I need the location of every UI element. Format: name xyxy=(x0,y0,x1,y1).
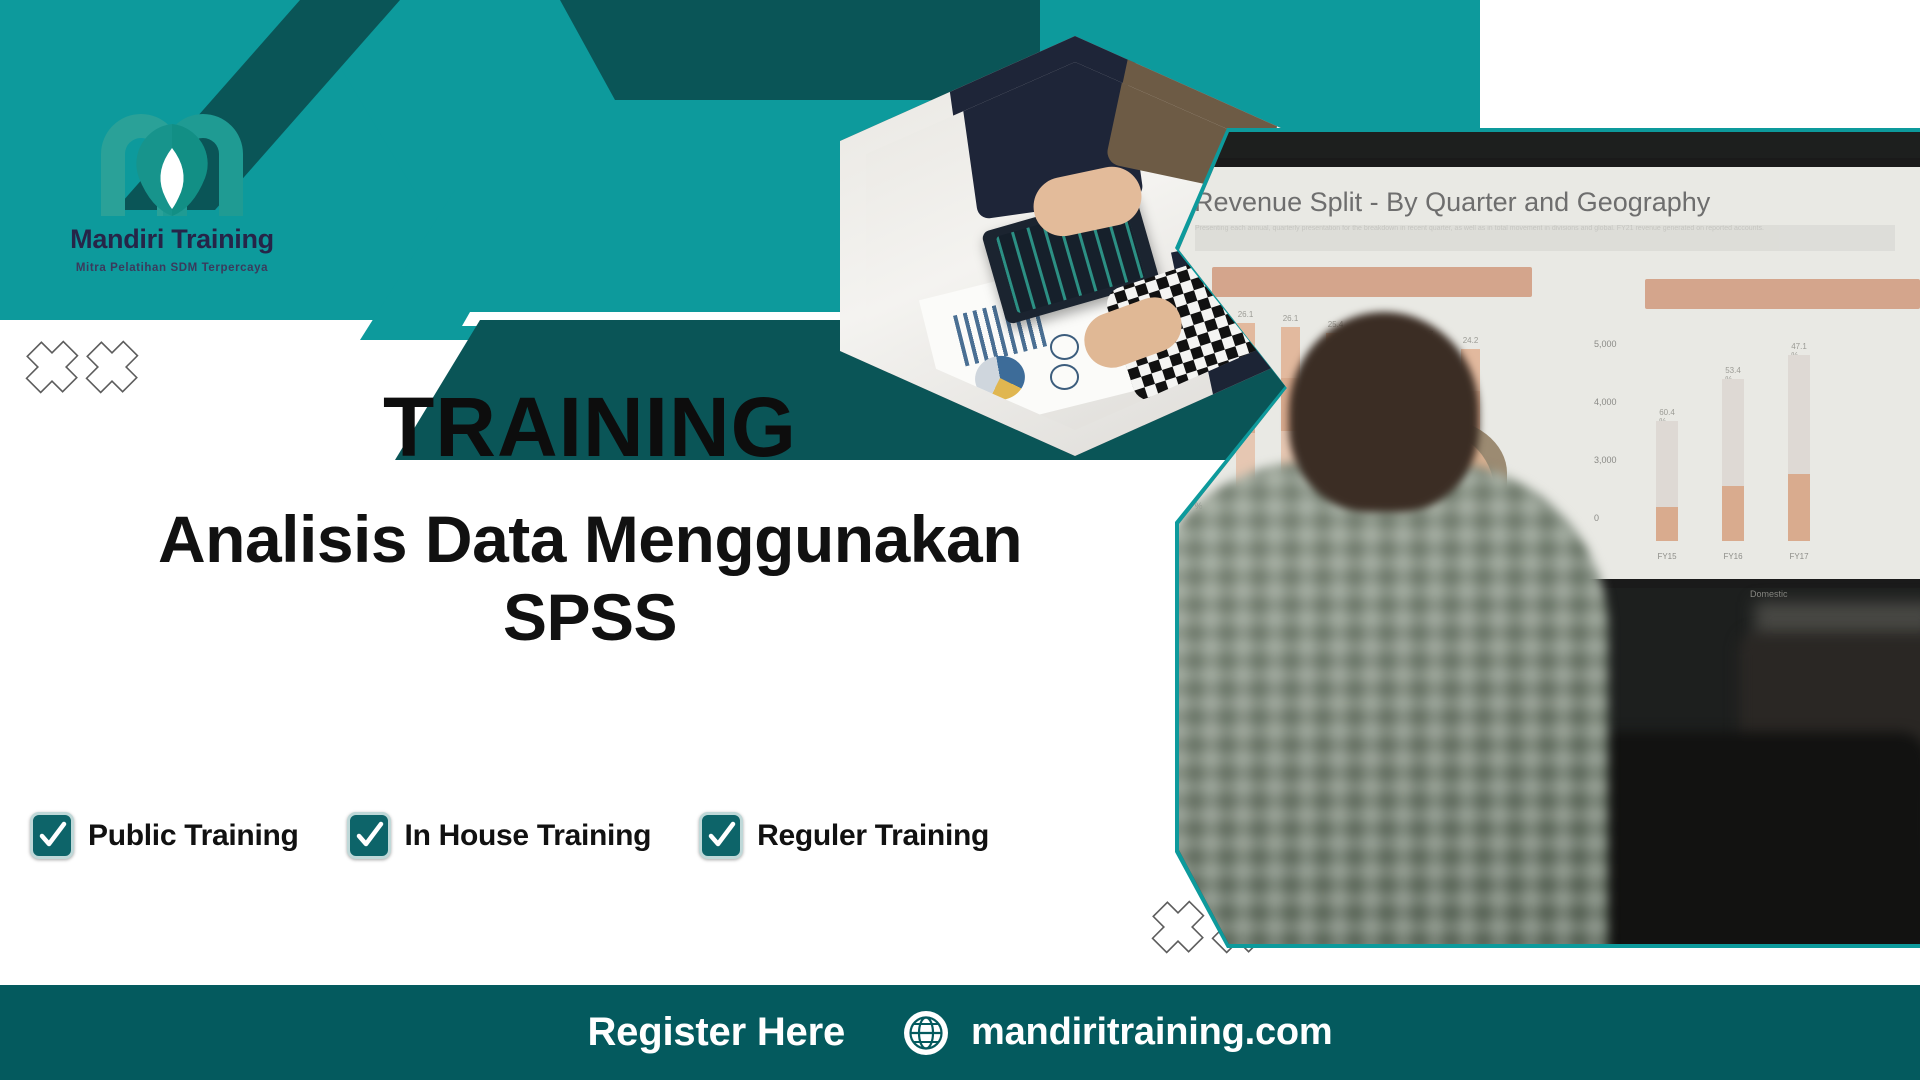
y-tick: 4,000 xyxy=(1594,397,1617,407)
footer-bar: Register Here mandiritraining.com xyxy=(0,985,1920,1080)
paper-donut-chart xyxy=(1050,364,1079,390)
checkbox-checked-icon[interactable] xyxy=(699,812,743,859)
chart-caption-bar xyxy=(1212,267,1532,297)
bar-label: FY15 xyxy=(1657,552,1676,561)
paper-donut-chart xyxy=(1050,334,1079,360)
check-icon xyxy=(706,821,736,851)
bar-stack: 53.4 % FY16 xyxy=(1722,379,1744,541)
bar-stack: 60.4 % FY15 xyxy=(1656,421,1678,541)
bar-value: 24.2 xyxy=(1463,336,1479,345)
y-tick: 5,000 xyxy=(1594,339,1617,349)
chart-caption-bar xyxy=(1645,279,1920,309)
training-type-label: In House Training xyxy=(405,819,652,853)
bar-value: 26.1 xyxy=(1238,310,1254,319)
brand-tagline: Mitra Pelatihan SDM Terpercaya xyxy=(42,262,302,274)
bar-stack: 47.1 % FY17 xyxy=(1788,355,1810,541)
training-promo-banner: Mandiri Training Mitra Pelatihan SDM Ter… xyxy=(0,0,1920,1080)
list-item[interactable]: In House Training xyxy=(347,812,652,859)
list-item[interactable]: Reguler Training xyxy=(699,812,989,859)
slide-subtitle-text: Presenting each annual, quarterly presen… xyxy=(1195,225,1895,233)
training-types-list: Public Training In House Training Regule… xyxy=(30,812,1037,859)
mandiri-m-monogram-icon xyxy=(97,108,247,218)
y-tick: 100 % xyxy=(1182,319,1208,329)
globe-icon xyxy=(903,1010,949,1056)
register-label: Register Here xyxy=(588,1010,846,1055)
brand-name: Mandiri Training xyxy=(42,224,302,255)
audience-member-head xyxy=(1289,312,1479,512)
check-icon xyxy=(37,821,67,851)
cross-outline-icon xyxy=(24,338,80,396)
audience-member-plaid xyxy=(1179,462,1609,944)
bar-label: FY16 xyxy=(1723,552,1742,561)
page-title: Analisis Data Menggunakan SPSS xyxy=(80,501,1100,657)
chart-legend: Domestic xyxy=(1750,589,1788,599)
website-link[interactable]: mandiritraining.com xyxy=(903,1010,1332,1056)
list-item[interactable]: Public Training xyxy=(30,812,299,859)
y-tick: 40 % xyxy=(1182,463,1203,473)
photo-inner: Revenue Split - By Quarter and Geography… xyxy=(1179,132,1920,944)
bar-label: FY17 xyxy=(1789,552,1808,561)
chart-geography-split: 5,000 4,000 3,000 0 60.4 % FY15 53.4 % xyxy=(1600,279,1920,569)
presentation-photo: Revenue Split - By Quarter and Geography… xyxy=(1175,128,1920,948)
check-icon xyxy=(354,821,384,851)
brand-logo[interactable]: Mandiri Training Mitra Pelatihan SDM Ter… xyxy=(42,108,302,274)
training-type-label: Public Training xyxy=(88,819,299,853)
checkbox-checked-icon[interactable] xyxy=(30,812,74,859)
checkbox-checked-icon[interactable] xyxy=(347,812,391,859)
slide-title: Revenue Split - By Quarter and Geography xyxy=(1194,187,1710,218)
bar-group: 60.4 % FY15 53.4 % FY16 47.1 % FY xyxy=(1656,337,1920,541)
slide-subtitle: Presenting each annual, quarterly presen… xyxy=(1195,225,1895,251)
y-tick: 80 % xyxy=(1182,367,1203,377)
training-type-label: Reguler Training xyxy=(757,819,989,853)
y-tick: 60 % xyxy=(1182,415,1203,425)
website-url: mandiritraining.com xyxy=(971,1011,1332,1054)
bar-value: 26.1 xyxy=(1283,314,1299,323)
